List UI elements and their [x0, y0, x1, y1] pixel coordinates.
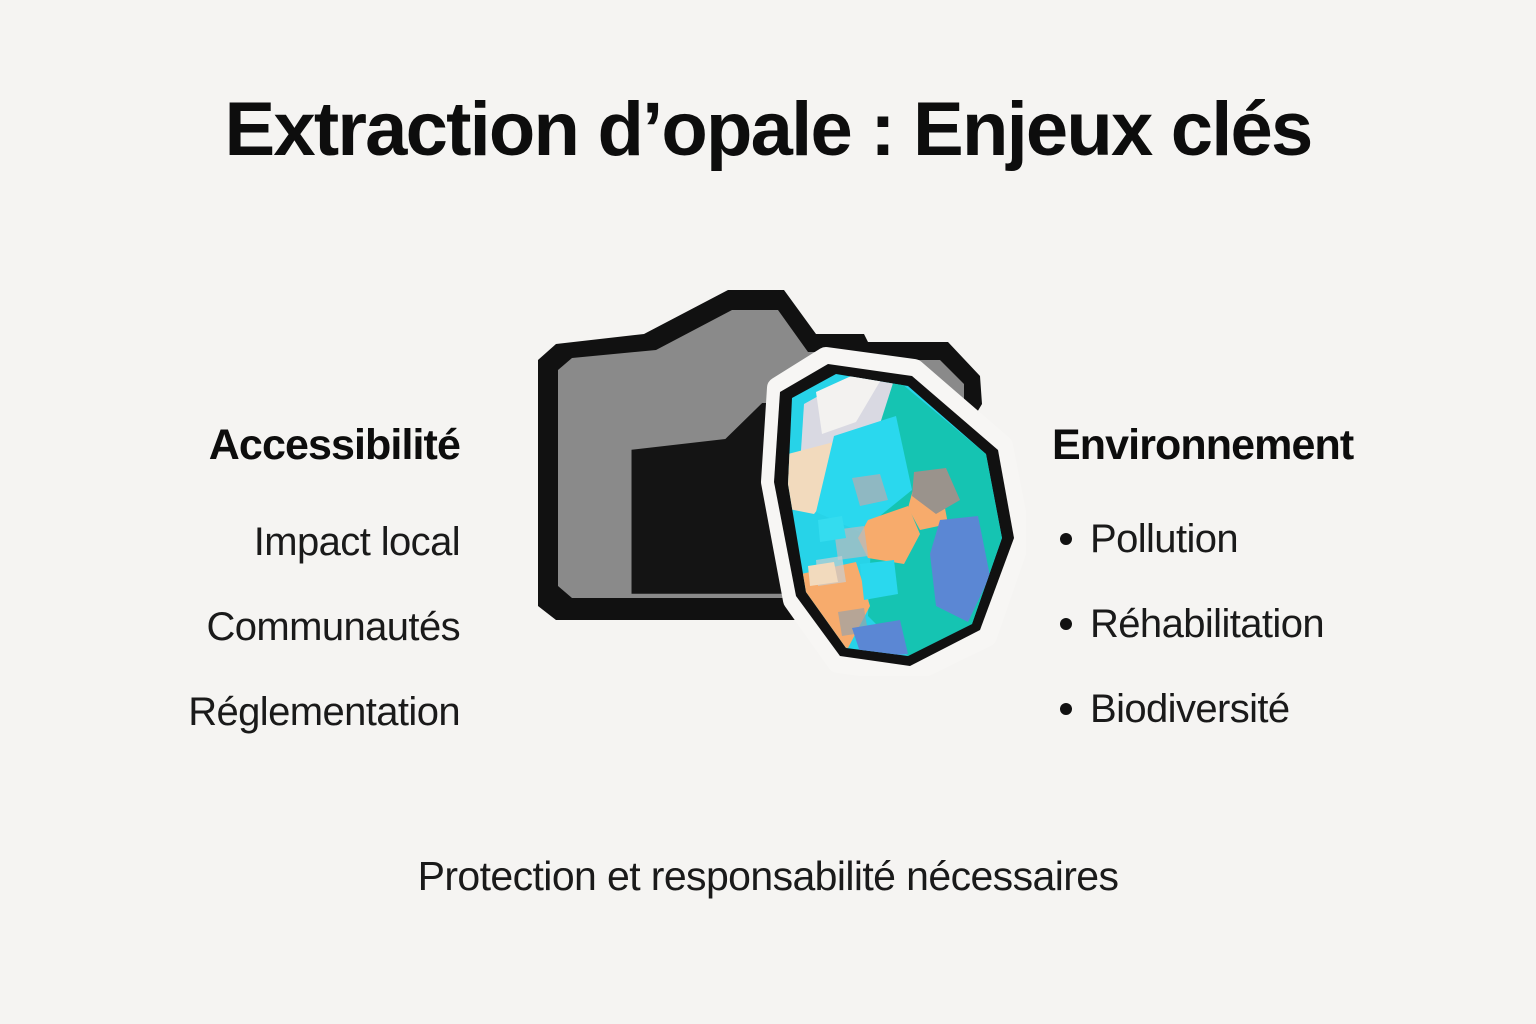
list-item: Impact local	[40, 522, 460, 562]
column-heading-left: Accessibilité	[40, 424, 460, 467]
column-left-list: Impact local Communautés Réglementation	[40, 522, 460, 732]
list-item: Biodiversité	[1052, 689, 1502, 729]
slide-canvas: Extraction d’opale : Enjeux clés Accessi…	[0, 0, 1536, 1024]
column-heading-right: Environnement	[1052, 424, 1502, 467]
page-title: Extraction d’opale : Enjeux clés	[0, 92, 1536, 168]
bullet-icon	[1060, 618, 1072, 630]
column-environnement: Environnement Pollution Réhabilitation B…	[1052, 424, 1502, 729]
column-right-list: Pollution Réhabilitation Biodiversité	[1052, 519, 1502, 729]
list-item-label: Réhabilitation	[1090, 604, 1324, 644]
list-item: Pollution	[1052, 519, 1502, 559]
list-item: Réglementation	[40, 692, 460, 732]
bullet-icon	[1060, 703, 1072, 715]
mine-rock-with-opal-illustration	[516, 276, 1026, 676]
column-accessibilite: Accessibilité Impact local Communautés R…	[40, 424, 460, 732]
list-item-label: Biodiversité	[1090, 689, 1290, 729]
list-item-label: Pollution	[1090, 519, 1238, 559]
list-item: Réhabilitation	[1052, 604, 1502, 644]
bullet-icon	[1060, 533, 1072, 545]
footer-caption: Protection et responsabilité nécessaires	[0, 856, 1536, 897]
list-item: Communautés	[40, 607, 460, 647]
